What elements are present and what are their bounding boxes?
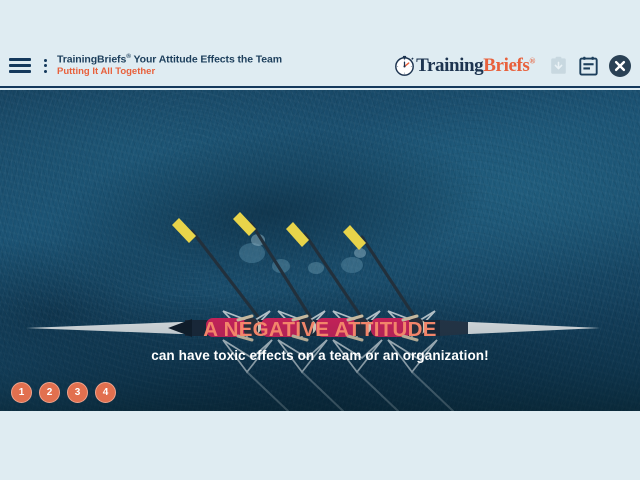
hamburger-menu-icon[interactable] [9,58,31,73]
course-title-brand: TrainingBriefs [57,54,126,66]
pager-button-3[interactable]: 3 [67,382,88,403]
course-player-window: TrainingBriefs® Your Attitude Effects th… [0,0,640,480]
slide-headline: A NEGATIVE ATTITUDE [0,318,640,342]
download-icon [550,56,567,75]
trainingbriefs-logo: TrainingBriefs® [394,55,535,77]
slide-stage: A NEGATIVE ATTITUDE can have toxic effec… [0,90,640,411]
hamburger-line [9,64,31,67]
stopwatch-icon [394,55,415,76]
hamburger-line [9,70,31,73]
close-button[interactable] [608,54,632,78]
pager-button-1[interactable]: 1 [11,382,32,403]
brand-registered-mark: ® [529,56,535,65]
header-actions: TrainingBriefs® [394,54,632,78]
hamburger-line [9,58,31,61]
close-circle-icon [608,54,632,78]
slide-text-overlay: A NEGATIVE ATTITUDE can have toxic effec… [0,318,640,363]
kebab-dot [44,64,47,67]
slide-pager: 1 2 3 4 [11,382,116,403]
page-title: TrainingBriefs® Your Attitude Effects th… [57,53,282,66]
kebab-dot [44,59,47,62]
brand-wordmark: TrainingBriefs® [416,55,535,77]
notes-button[interactable] [578,54,599,77]
kebab-dot [44,70,47,73]
course-subtitle: Putting It All Together [57,67,282,78]
course-title-rest: Your Attitude Effects the Team [131,54,282,66]
download-button[interactable] [548,54,569,77]
player-header: TrainingBriefs® Your Attitude Effects th… [0,45,640,88]
course-title-block: TrainingBriefs® Your Attitude Effects th… [57,53,282,78]
slide-subheadline: can have toxic effects on a team or an o… [0,348,640,363]
kebab-menu-icon[interactable] [39,59,51,73]
brand-word-training: Training [416,55,483,76]
notes-icon [579,56,598,76]
pager-button-2[interactable]: 2 [39,382,60,403]
brand-word-briefs: Briefs [483,55,529,76]
pager-button-4[interactable]: 4 [95,382,116,403]
